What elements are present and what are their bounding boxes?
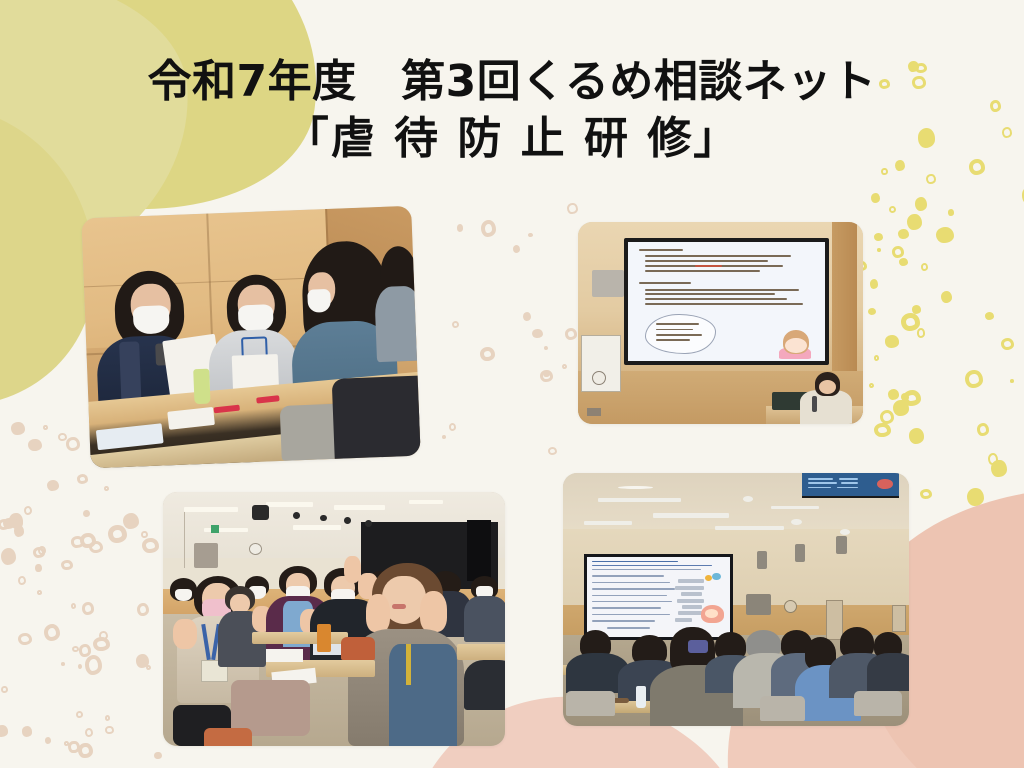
slide-text-line (639, 282, 690, 284)
speckle-dot (58, 433, 67, 442)
speckle-dot (136, 654, 149, 667)
speckle-dot (915, 197, 927, 211)
speckle-dot (892, 246, 905, 258)
slide-cloud-text-line (656, 329, 693, 331)
speckle-dot (154, 752, 161, 760)
speckle-dot (903, 390, 921, 406)
speckle-dot (543, 371, 549, 377)
speckle-dot (907, 214, 922, 231)
speckle-dot (449, 423, 456, 431)
speckle-dot (544, 346, 549, 350)
speckle-dot (532, 329, 543, 339)
speckle-dot (452, 321, 459, 328)
speckle-dot (874, 233, 883, 241)
speckle-dot (442, 435, 446, 439)
slide-cloud-text-line (656, 339, 690, 341)
speckle-dot (548, 447, 557, 455)
speckle-dot (61, 662, 65, 666)
slide-text-line (645, 255, 791, 257)
speckle-dot (14, 525, 25, 537)
participants-peace-sign-photo (163, 492, 505, 746)
speckle-dot (89, 541, 103, 553)
speckle-dot (909, 428, 924, 443)
speckle-dot (64, 741, 70, 746)
speckle-dot (921, 263, 928, 271)
speckle-dot (948, 209, 955, 216)
speckle-dot (137, 603, 149, 617)
speckle-dot (35, 564, 41, 571)
speckle-dot (45, 737, 52, 744)
speckle-dot (540, 370, 553, 383)
speckle-dot (880, 410, 894, 424)
speckle-dot (47, 480, 59, 491)
speckle-dot (1, 548, 16, 566)
speckle-dot (877, 248, 882, 252)
speckle-dot (513, 245, 520, 253)
speckle-dot (105, 726, 113, 734)
speckle-dot (104, 486, 108, 491)
speckle-dot (870, 279, 879, 289)
speckle-dot (11, 422, 24, 435)
slide-text-line (645, 298, 787, 300)
speckle-dot (917, 328, 925, 337)
speckle-dot (871, 193, 880, 203)
speckle-dot (22, 726, 33, 736)
projected-document (584, 554, 733, 640)
speckle-dot (991, 460, 1006, 478)
slide-text-line (639, 249, 682, 251)
speckle-dot (18, 576, 26, 585)
speckle-dot (887, 336, 896, 344)
speckle-dot (9, 513, 23, 528)
speckle-dot (93, 637, 110, 652)
slide-text-line (645, 260, 767, 262)
speckle-dot (66, 437, 80, 451)
speckle-dot (24, 506, 32, 515)
speckle-dot (888, 389, 899, 400)
lecture-screen-photo (578, 222, 863, 424)
speckle-dot (941, 291, 952, 303)
slide-text-line (645, 289, 799, 291)
speckle-dot (481, 220, 496, 237)
speckle-dot (11, 516, 23, 529)
slide-text-line (645, 293, 775, 295)
speckle-dot (28, 439, 42, 452)
speckle-dot (898, 229, 909, 239)
speckle-dot (967, 488, 984, 507)
speckle-dot (562, 364, 567, 369)
speckle-dot (977, 423, 989, 436)
speckle-dot (893, 400, 908, 416)
speckle-dot (68, 741, 79, 754)
speckle-dot (85, 655, 102, 675)
speckle-dot (33, 547, 45, 558)
speckle-dot (889, 206, 896, 213)
speckle-dot (61, 560, 73, 570)
slide-text-line (645, 270, 759, 272)
speckle-dot (99, 631, 108, 641)
speckle-dot (43, 425, 47, 430)
speckle-dot (874, 355, 879, 361)
speckle-dot (123, 513, 140, 530)
speckle-dot (936, 227, 954, 243)
speckle-dot (1, 686, 7, 693)
ceiling-monitor (802, 473, 899, 498)
slide-title: 令和7年度 第3回くるめ相談ネット 「虐 待 防 止 研 修」 (0, 54, 1024, 168)
speckle-dot (141, 531, 148, 538)
speckle-dot (18, 633, 32, 645)
speckle-dot (988, 453, 999, 465)
speckle-dot (71, 536, 85, 548)
speckle-dot (82, 602, 94, 614)
title-line-2: 「虐 待 防 止 研 修」 (0, 110, 1024, 168)
speckle-dot (885, 335, 900, 347)
speckle-dot (72, 646, 79, 652)
speckle-dot (912, 305, 922, 314)
speckle-dot (901, 393, 909, 401)
speckle-dot (142, 538, 159, 553)
speckle-dot (985, 312, 994, 320)
presentation-slide: 令和7年度 第3回くるめ相談ネット 「虐 待 防 止 研 修」 (0, 0, 1024, 768)
speckle-dot (528, 233, 533, 237)
speckle-dot (108, 525, 127, 543)
speckle-dot (71, 603, 76, 609)
speckle-dot (80, 533, 96, 548)
slide-cloud-text-line (656, 334, 702, 336)
speckle-dot (38, 546, 46, 555)
speckle-dot (37, 590, 42, 595)
speckle-dot (78, 743, 92, 758)
speckle-dot (567, 203, 578, 214)
speckle-dot (881, 168, 887, 175)
speckle-dot (77, 474, 89, 484)
group-discussion-photo (81, 206, 420, 468)
speckle-dot (920, 489, 932, 499)
speckle-dot (1010, 379, 1014, 383)
speckle-dot (1001, 338, 1014, 350)
speckle-dot (79, 644, 91, 657)
slide-highlight-text (695, 265, 723, 267)
speckle-dot (523, 312, 531, 322)
slide-text-line (645, 303, 803, 305)
title-line-1: 令和7年度 第3回くるめ相談ネット (0, 54, 1024, 110)
speckle-dot (0, 725, 8, 736)
speckle-dot (926, 174, 936, 185)
speckle-dot (76, 711, 83, 718)
speckle-dot (457, 224, 463, 232)
speckle-dot (3, 518, 15, 529)
speckle-dot (44, 624, 60, 641)
speckle-dot (83, 510, 90, 518)
speckle-dot (146, 665, 151, 670)
speckle-dot (565, 328, 577, 340)
speckle-dot (901, 313, 920, 331)
speckle-dot (105, 715, 110, 721)
speckle-dot (868, 308, 876, 315)
speckle-dot (869, 383, 874, 388)
audience-back-view-photo (563, 473, 909, 726)
speckle-dot (899, 258, 908, 266)
speckle-dot (965, 370, 982, 388)
speckle-dot (480, 347, 495, 361)
speckle-dot (874, 423, 891, 438)
slide-cloud-text-line (656, 323, 699, 325)
speckle-dot (85, 728, 93, 737)
speckle-dot (78, 664, 82, 669)
speckle-dot (0, 519, 10, 529)
